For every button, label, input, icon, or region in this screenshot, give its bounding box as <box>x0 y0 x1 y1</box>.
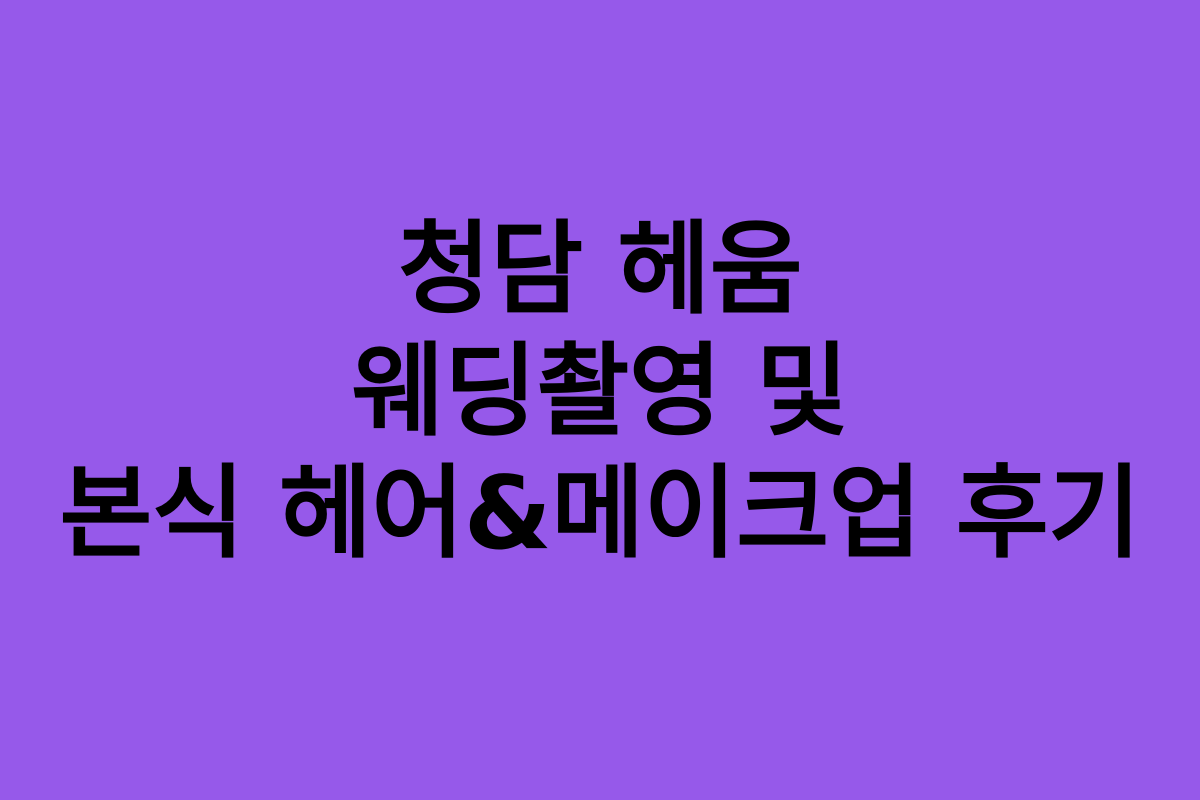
title-line-2: 웨딩촬영 및 <box>352 330 849 452</box>
title-line-1: 청담 헤움 <box>398 208 802 330</box>
title-line-3: 본식 헤어&메이크업 후기 <box>59 452 1140 574</box>
title-card-canvas: 청담 헤움 웨딩촬영 및 본식 헤어&메이크업 후기 <box>0 0 1200 800</box>
title-text-block: 청담 헤움 웨딩촬영 및 본식 헤어&메이크업 후기 <box>0 0 1200 800</box>
